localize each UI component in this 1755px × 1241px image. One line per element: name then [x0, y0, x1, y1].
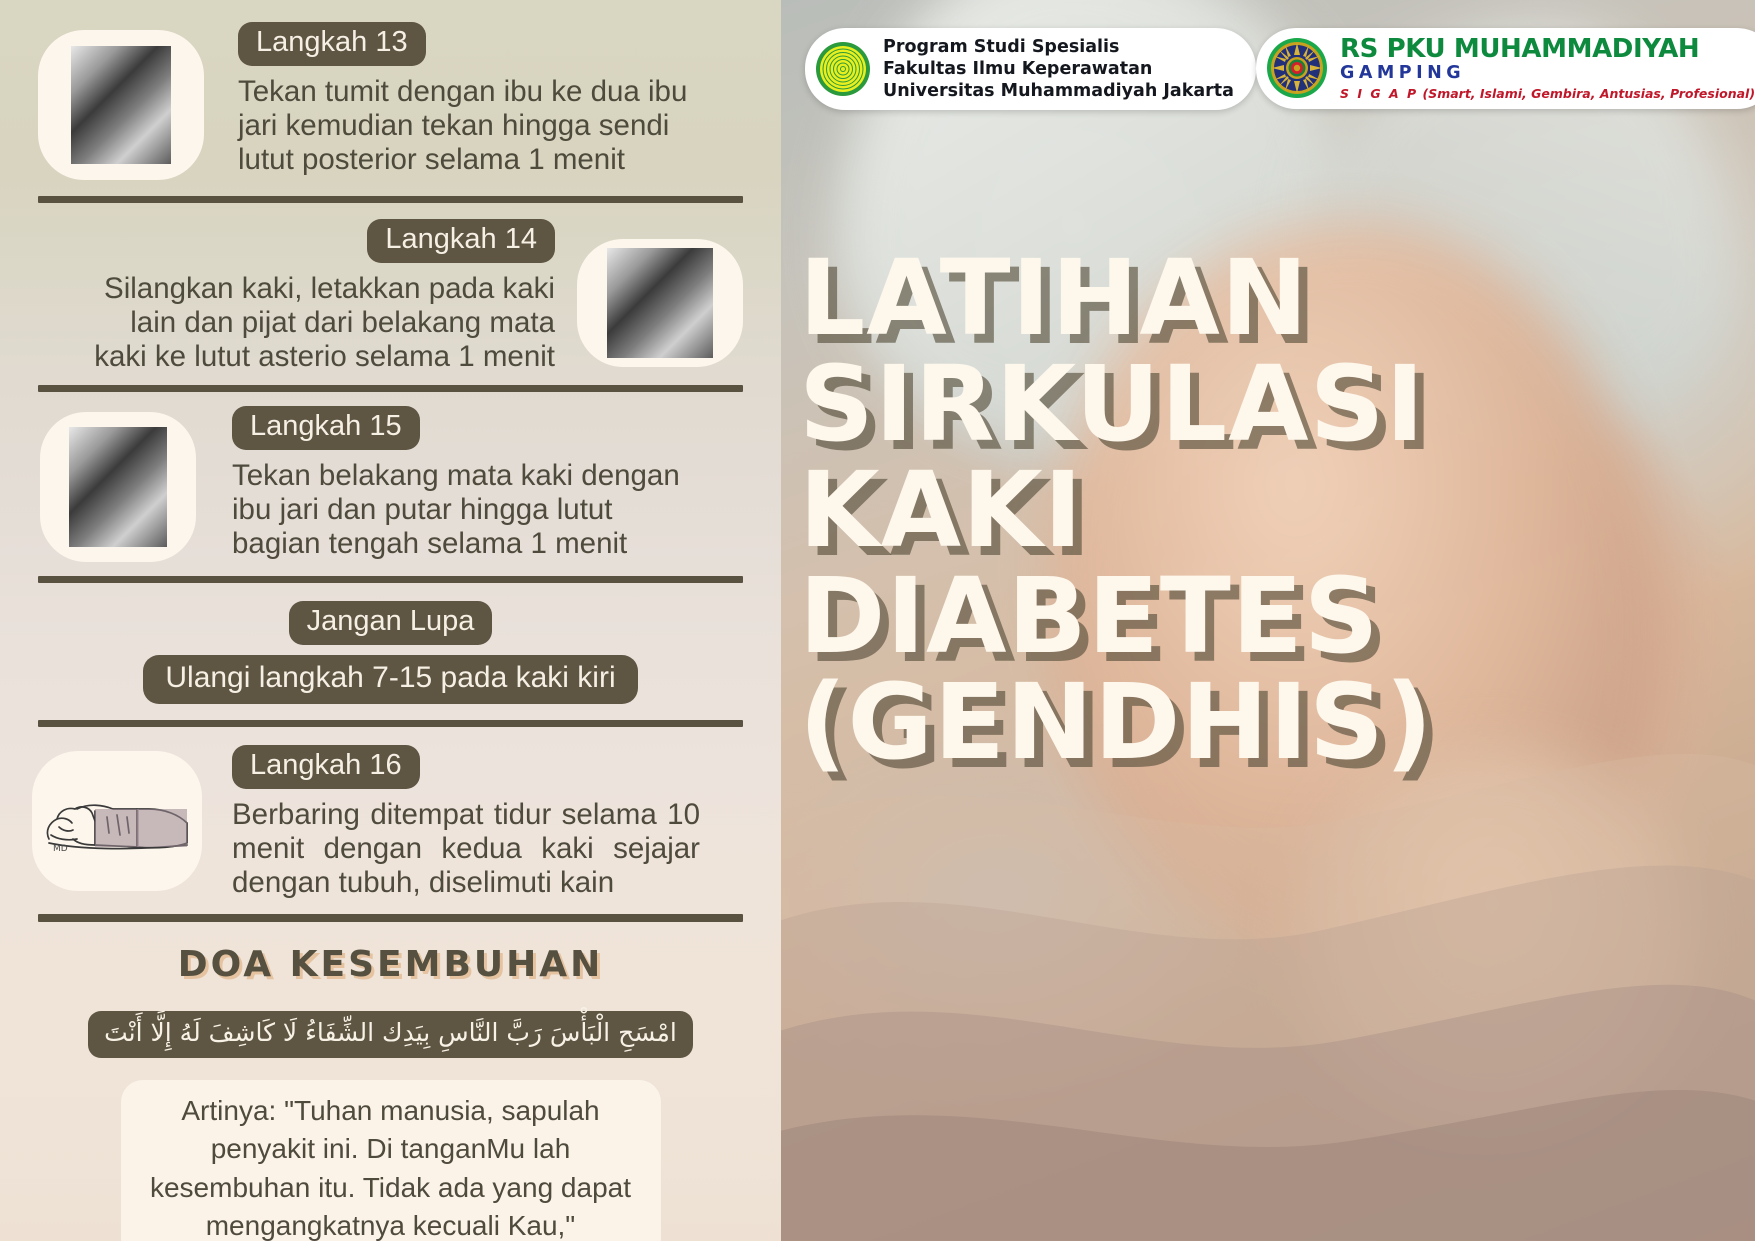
rspku-tagline: S I G A P (Smart, Islami, Gembira, Antus… — [1340, 86, 1755, 101]
reminder-block: Jangan Lupa Ulangi langkah 7-15 pada kak… — [0, 583, 781, 720]
step-16-text: Berbaring ditempat tidur selama 10 menit… — [232, 798, 700, 901]
rspku-text-block: RS PKU MUHAMMADIYAH GAMPING S I G A P (S… — [1340, 36, 1755, 101]
step-13-text: Tekan tumit dengan ibu ke dua ibu jari k… — [238, 75, 688, 178]
cover-title-line-1: LATIHAN — [799, 245, 1433, 351]
step-block-16: MD Langkah 16 Berbaring ditempat tidur s… — [0, 727, 781, 901]
photo-step-14-image — [607, 248, 713, 358]
step-14-badge: Langkah 14 — [367, 219, 555, 263]
illustration-person-lying-in-bed: MD — [32, 751, 202, 891]
bed-rest-illustration-icon: MD — [37, 761, 197, 881]
umj-line-2: Fakultas Ilmu Keperawatan — [883, 58, 1234, 80]
step-block-14: Langkah 14 Silangkan kaki, letakkan pada… — [0, 203, 781, 375]
step-block-15: Langkah 15 Tekan belakang mata kaki deng… — [0, 392, 781, 562]
step-13-body: Langkah 13 Tekan tumit dengan ibu ke dua… — [238, 22, 688, 178]
doa-arabic-text: امْسَحِ الْبَأْسَ رَبَّ النَّاسِ بِيَدِك… — [88, 1011, 693, 1057]
cover-title-line-3: KAKI — [799, 457, 1433, 563]
rspku-sub: GAMPING — [1340, 62, 1755, 86]
muhammadiyah-sun-emblem-yellow-green-icon — [815, 41, 871, 97]
cover-panel: Program Studi Spesialis Fakultas Ilmu Ke… — [781, 0, 1755, 1241]
step-15-body: Langkah 15 Tekan belakang mata kaki deng… — [232, 406, 692, 562]
svg-text:MD: MD — [53, 844, 68, 854]
doa-title: DOA KESEMBUHAN — [0, 944, 781, 985]
divider-3 — [38, 576, 743, 583]
photo-step-15 — [40, 412, 196, 562]
cover-title-line-5: (GENDHIS) — [799, 669, 1433, 775]
logo-card-rspku: RS PKU MUHAMMADIYAH GAMPING S I G A P (S… — [1256, 28, 1755, 109]
photo-step-13 — [38, 30, 204, 180]
reminder-badge: Jangan Lupa — [289, 601, 493, 645]
muhammadiyah-sun-emblem-blue-gold-icon — [1266, 37, 1328, 99]
step-16-badge: Langkah 16 — [232, 745, 420, 789]
step-16-body: Langkah 16 Berbaring ditempat tidur sela… — [232, 745, 700, 901]
reminder-text: Ulangi langkah 7-15 pada kaki kiri — [143, 655, 637, 704]
umj-line-3: Universitas Muhammadiyah Jakarta — [883, 80, 1234, 102]
cover-title: LATIHAN SIRKULASI KAKI DIABETES (GENDHIS… — [799, 245, 1433, 775]
step-14-body: Langkah 14 Silangkan kaki, letakkan pada… — [75, 219, 555, 375]
divider-1 — [38, 196, 743, 203]
doa-translation: Artinya: "Tuhan manusia, sapulah penyaki… — [121, 1080, 661, 1241]
divider-4 — [38, 720, 743, 727]
doa-section: DOA KESEMBUHAN امْسَحِ الْبَأْسَ رَبَّ ا… — [0, 922, 781, 1241]
divider-5 — [38, 914, 743, 922]
brochure-page: Langkah 13 Tekan tumit dengan ibu ke dua… — [0, 0, 1755, 1241]
step-15-badge: Langkah 15 — [232, 406, 420, 450]
umj-line-1: Program Studi Spesialis — [883, 36, 1234, 58]
rspku-tagline-prefix: S I G A P — [1340, 86, 1418, 101]
photo-step-14 — [577, 239, 743, 367]
step-block-13: Langkah 13 Tekan tumit dengan ibu ke dua… — [0, 0, 781, 180]
photo-step-13-image — [71, 46, 171, 164]
logo-card-umj: Program Studi Spesialis Fakultas Ilmu Ke… — [805, 28, 1256, 110]
photo-step-15-image — [69, 427, 167, 547]
cover-title-line-4: DIABETES — [799, 563, 1433, 669]
cover-title-line-2: SIRKULASI — [799, 351, 1433, 457]
rspku-tagline-rest: (Smart, Islami, Gembira, Antusias, Profe… — [1422, 86, 1755, 101]
umj-text-block: Program Studi Spesialis Fakultas Ilmu Ke… — [883, 36, 1234, 102]
step-15-text: Tekan belakang mata kaki dengan ibu jari… — [232, 459, 692, 562]
divider-2 — [38, 385, 743, 392]
left-content-panel: Langkah 13 Tekan tumit dengan ibu ke dua… — [0, 0, 781, 1241]
step-13-badge: Langkah 13 — [238, 22, 426, 66]
logo-row: Program Studi Spesialis Fakultas Ilmu Ke… — [803, 28, 1739, 110]
step-14-text: Silangkan kaki, letakkan pada kaki lain … — [75, 272, 555, 375]
rspku-name: RS PKU MUHAMMADIYAH — [1340, 36, 1755, 62]
